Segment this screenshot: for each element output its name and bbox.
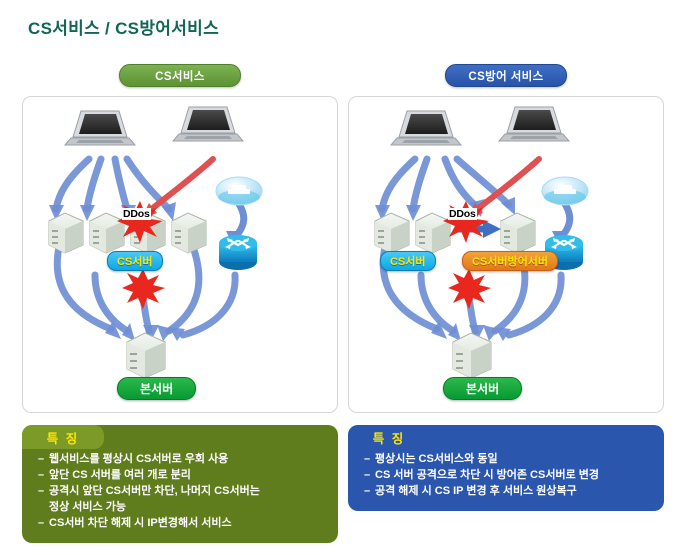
- main-server-icon: [453, 333, 491, 378]
- client-laptop-icon: [499, 107, 569, 141]
- feature-item: CS 서버 공격으로 차단 시 방어존 CS서버로 변경: [364, 467, 652, 483]
- feature-item: 앞단 CS 서버를 여러 개로 분리: [38, 467, 326, 483]
- attack-burst-lower: [448, 269, 491, 309]
- feature-item: 공격시 앞단 CS서버만 차단, 나머지 CS서버는 정상 서비스 가능: [38, 483, 326, 515]
- main-server-icon: [127, 333, 165, 378]
- feature-tab-label: 특 징: [22, 425, 104, 449]
- feature-tab-label: 특 징: [348, 425, 430, 449]
- diagram-cs-defense-service: DDos CS서버 CS서버방어서버 본서버: [348, 96, 664, 413]
- feature-box-cs-defense-service: 특 징 평상시는 CS서비스와 동일 CS 서버 공격으로 차단 시 방어존 C…: [348, 425, 664, 511]
- page-title: CS서비스 / CS방어서비스: [28, 14, 219, 39]
- attack-burst-lower: [122, 269, 165, 309]
- internet-cloud-icon: [216, 177, 262, 205]
- feature-item: 공격 해제 시 CS IP 변경 후 서비스 원상복구: [364, 483, 652, 499]
- feature-list: 평상시는 CS서비스와 동일 CS 서버 공격으로 차단 시 방어존 CS서버로…: [364, 451, 652, 499]
- panel-cs-defense-service: CS방어 서비스: [348, 64, 664, 511]
- internet-cloud-icon: [542, 177, 588, 205]
- cs-server-label: CS서버: [380, 251, 436, 271]
- feature-box-cs-service: 특 징 웹서비스를 평상시 CS서버로 우회 사용 앞단 CS 서버를 여러 개…: [22, 425, 338, 543]
- router-icon: [219, 235, 257, 270]
- feature-list: 웹서비스를 평상시 CS서버로 우회 사용 앞단 CS 서버를 여러 개로 분리…: [38, 451, 326, 531]
- ddos-label: DDos: [122, 208, 151, 220]
- panel-header-cs-defense-service: CS방어 서비스: [445, 64, 567, 87]
- panel-cs-service: CS서비스: [22, 64, 338, 543]
- client-laptop-icon: [173, 107, 243, 141]
- ddos-label: DDos: [448, 208, 477, 220]
- feature-item: 웹서비스를 평상시 CS서버로 우회 사용: [38, 451, 326, 467]
- attacker-laptop-icon: [391, 111, 461, 145]
- cs-server-label: CS서버: [107, 251, 163, 271]
- main-server-label: 본서버: [117, 377, 196, 400]
- feature-item: 평상시는 CS서비스와 동일: [364, 451, 652, 467]
- defense-server-label: CS서버방어서버: [462, 251, 558, 271]
- diagram-cs-service: DDos CS서버 본서버: [22, 96, 338, 413]
- defense-server-icon: [501, 213, 535, 253]
- feature-item: CS서버 차단 해제 시 IP변경해서 서비스: [38, 515, 326, 531]
- attacker-laptop-icon: [65, 111, 135, 145]
- panel-header-cs-service: CS서비스: [119, 64, 241, 87]
- diagram-graphics-left: [23, 97, 337, 410]
- main-server-label: 본서버: [443, 377, 522, 400]
